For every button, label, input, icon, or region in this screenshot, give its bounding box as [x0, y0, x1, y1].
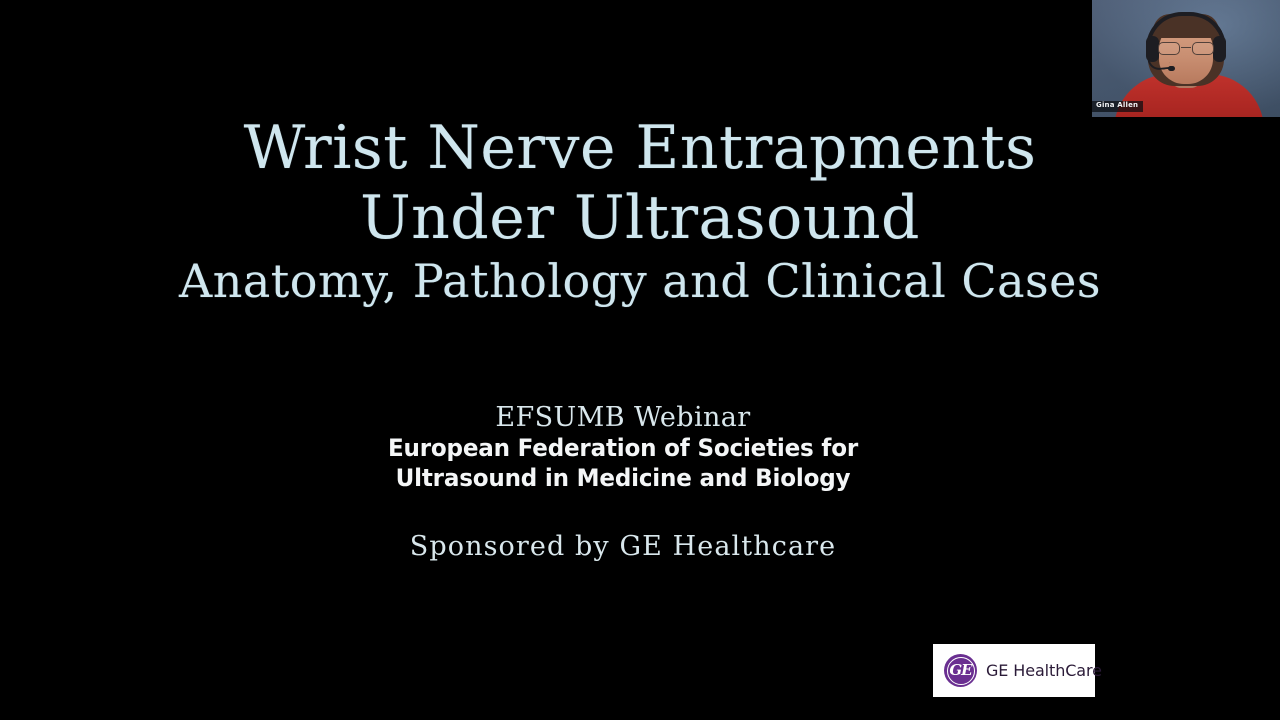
organisation-line-1: European Federation of Societies for [25, 434, 1221, 464]
ge-monogram-icon: GE [944, 654, 977, 687]
participant-glasses-icon [1157, 42, 1215, 55]
ge-monogram-text: GE [949, 663, 971, 678]
slide-title-line-2: Under Ultrasound [0, 188, 1280, 248]
glasses-bridge [1181, 47, 1191, 48]
event-info-block: EFSUMB Webinar European Federation of So… [0, 402, 1246, 562]
presentation-slide: Wrist Nerve Entrapments Under Ultrasound… [0, 0, 1280, 720]
organisation-line-2: Ultrasound in Medicine and Biology [25, 464, 1221, 494]
headset-mic-tip-icon [1168, 66, 1175, 71]
webcam-participant-image [1092, 0, 1280, 117]
participant-name-label: Gina Allen [1092, 101, 1143, 112]
webinar-label: EFSUMB Webinar [0, 402, 1246, 434]
ge-wordmark-text: GE HealthCare [986, 661, 1102, 680]
webcam-video-tile[interactable]: Gina Allen [1092, 0, 1280, 117]
slide-title-block: Wrist Nerve Entrapments Under Ultrasound… [0, 118, 1280, 304]
slide-subtitle-line: Anatomy, Pathology and Clinical Cases [0, 258, 1280, 304]
slide-title-line-1: Wrist Nerve Entrapments [0, 118, 1280, 178]
ge-healthcare-logo: GE GE HealthCare [933, 644, 1095, 697]
glasses-lens-left [1158, 42, 1180, 55]
sponsor-label: Sponsored by GE Healthcare [0, 531, 1246, 562]
glasses-lens-right [1192, 42, 1214, 55]
